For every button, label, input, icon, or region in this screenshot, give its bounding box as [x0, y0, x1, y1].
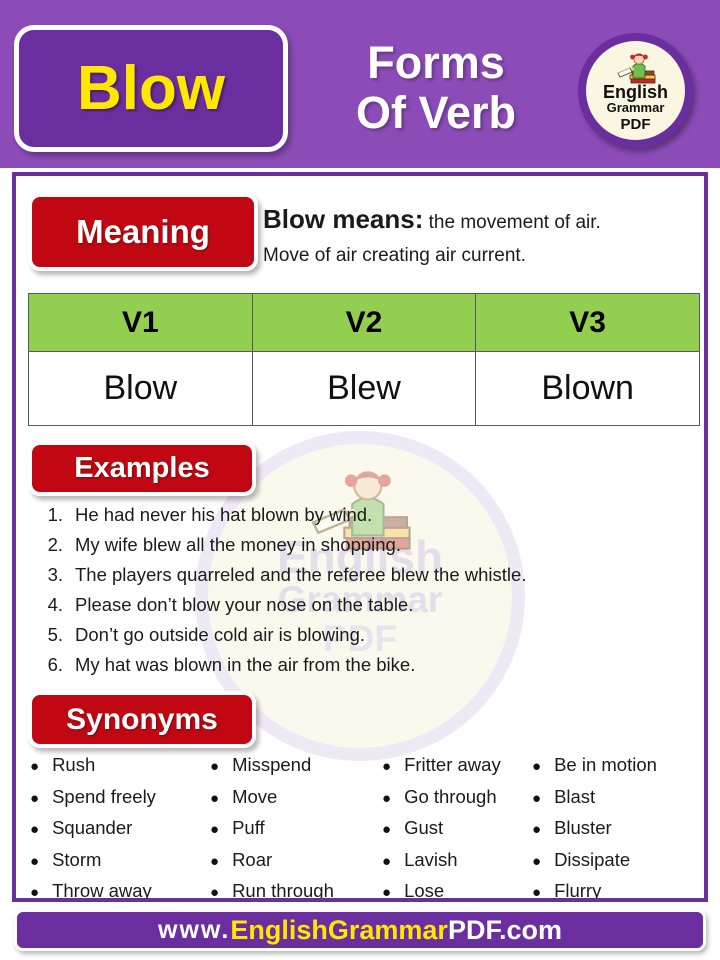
list-item: ●Run through [210, 882, 382, 901]
meaning-line-2: Move of air creating air current. [263, 241, 703, 270]
synonym-text: Run through [232, 882, 334, 901]
list-item: ●Misspend [210, 756, 382, 775]
footer-www: www. [158, 916, 230, 945]
footer-brand: EnglishGrammar [230, 915, 448, 946]
synonym-text: Lavish [404, 851, 457, 870]
synonym-text: Throw away [52, 882, 152, 901]
example-text: My hat was blown in the air from the bik… [75, 656, 686, 675]
meaning-badge-label: Meaning [76, 213, 210, 251]
verb-forms-table: V1 V2 V3 Blow Blew Blown [28, 293, 700, 426]
verb-title-box: Blow [14, 25, 288, 152]
bullet-icon: ● [532, 854, 541, 869]
synonym-text: Lose [404, 882, 444, 901]
synonym-text: Flurry [554, 882, 601, 901]
meaning-lead: Blow means: [263, 204, 423, 234]
table-header-row: V1 V2 V3 [29, 294, 700, 352]
bullet-icon: ● [382, 885, 391, 900]
example-number: 1. [46, 506, 75, 525]
table-row: Blow Blew Blown [29, 352, 700, 426]
list-item: ●Gust [382, 819, 532, 838]
list-item: 3. The players quarreled and the referee… [46, 566, 686, 585]
bullet-icon: ● [30, 791, 39, 806]
footer-suffix: PDF.com [448, 915, 562, 946]
synonym-text: Go through [404, 788, 497, 807]
bullet-icon: ● [30, 854, 39, 869]
list-item: ●Dissipate [532, 851, 700, 870]
bullet-icon: ● [382, 759, 391, 774]
bullet-icon: ● [210, 791, 219, 806]
bullet-icon: ● [210, 854, 219, 869]
example-text: The players quarreled and the referee bl… [75, 566, 686, 585]
list-item: ●Fritter away [382, 756, 532, 775]
verb-form-v2: Blew [252, 352, 476, 426]
synonym-text: Blast [554, 788, 595, 807]
verb-form-v3: Blown [476, 352, 700, 426]
bullet-icon: ● [532, 759, 541, 774]
list-item: 2. My wife blew all the money in shoppin… [46, 536, 686, 555]
child-reading-books-icon [613, 46, 659, 92]
meaning-definition: the movement of air. [423, 212, 600, 233]
synonyms-column-2: ●Misspend ●Move ●Puff ●Roar ●Run through [210, 756, 382, 902]
examples-badge-label: Examples [74, 452, 209, 485]
synonyms-badge-label: Synonyms [66, 703, 218, 737]
footer-website-bar[interactable]: www.EnglishGrammarPDF.com [14, 909, 706, 951]
example-number: 4. [46, 596, 75, 615]
example-text: Don’t go outside cold air is blowing. [75, 626, 686, 645]
example-number: 2. [46, 536, 75, 555]
synonym-text: Fritter away [404, 756, 501, 775]
subtitle-line-1: Forms [367, 38, 505, 88]
list-item: 4. Please don’t blow your nose on the ta… [46, 596, 686, 615]
example-number: 6. [46, 656, 75, 675]
list-item: 5. Don’t go outside cold air is blowing. [46, 626, 686, 645]
bullet-icon: ● [382, 791, 391, 806]
verb-form-v1: Blow [29, 352, 253, 426]
examples-badge: Examples [28, 441, 256, 496]
bullet-icon: ● [210, 759, 219, 774]
meaning-badge: Meaning [28, 193, 258, 271]
synonym-text: Gust [404, 819, 443, 838]
logo-text-pdf: PDF [621, 116, 651, 134]
logo-text-grammar: Grammar [607, 101, 665, 116]
list-item: ●Blast [532, 788, 700, 807]
bullet-icon: ● [210, 822, 219, 837]
list-item: ●Bluster [532, 819, 700, 838]
example-text: He had never his hat blown by wind. [75, 506, 686, 525]
brand-logo-badge: English Grammar PDF [578, 33, 693, 148]
bullet-icon: ● [382, 854, 391, 869]
bullet-icon: ● [30, 885, 39, 900]
synonym-text: Roar [232, 851, 272, 870]
column-header-v1: V1 [29, 294, 253, 352]
synonyms-column-3: ●Fritter away ●Go through ●Gust ●Lavish … [382, 756, 532, 902]
bullet-icon: ● [532, 791, 541, 806]
infographic-page: Blow Forms Of Verb [0, 0, 720, 960]
list-item: ●Rush [30, 756, 210, 775]
bullet-icon: ● [30, 759, 39, 774]
synonym-text: Rush [52, 756, 95, 775]
list-item: ●Be in motion [532, 756, 700, 775]
synonym-text: Dissipate [554, 851, 630, 870]
list-item: ●Move [210, 788, 382, 807]
header-subtitle: Forms Of Verb [296, 24, 576, 152]
synonym-text: Squander [52, 819, 132, 838]
list-item: 1. He had never his hat blown by wind. [46, 506, 686, 525]
list-item: ●Throw away [30, 882, 210, 901]
synonyms-columns: ●Rush ●Spend freely ●Squander ●Storm ●Th… [30, 756, 700, 902]
list-item: 6. My hat was blown in the air from the … [46, 656, 686, 675]
synonyms-column-4: ●Be in motion ●Blast ●Bluster ●Dissipate… [532, 756, 700, 902]
bullet-icon: ● [532, 885, 541, 900]
bullet-icon: ● [210, 885, 219, 900]
synonym-text: Puff [232, 819, 265, 838]
example-text: My wife blew all the money in shopping. [75, 536, 686, 555]
content-frame: English Grammar PDF Meaning Blow means: … [12, 172, 708, 902]
page-title: Blow [77, 58, 225, 120]
list-item: ●Lavish [382, 851, 532, 870]
example-number: 5. [46, 626, 75, 645]
synonym-text: Misspend [232, 756, 311, 775]
synonym-text: Spend freely [52, 788, 156, 807]
list-item: ●Puff [210, 819, 382, 838]
column-header-v2: V2 [252, 294, 476, 352]
list-item: ●Lose [382, 882, 532, 901]
bullet-icon: ● [382, 822, 391, 837]
list-item: ●Roar [210, 851, 382, 870]
synonym-text: Move [232, 788, 277, 807]
synonym-text: Be in motion [554, 756, 657, 775]
synonyms-badge: Synonyms [28, 691, 256, 748]
column-header-v3: V3 [476, 294, 700, 352]
bullet-icon: ● [30, 822, 39, 837]
meaning-text-block: Blow means: the movement of air. Move of… [263, 200, 703, 270]
example-text: Please don’t blow your nose on the table… [75, 596, 686, 615]
list-item: ●Spend freely [30, 788, 210, 807]
synonyms-column-1: ●Rush ●Spend freely ●Squander ●Storm ●Th… [30, 756, 210, 902]
bullet-icon: ● [532, 822, 541, 837]
list-item: ●Storm [30, 851, 210, 870]
examples-list: 1. He had never his hat blown by wind. 2… [46, 506, 686, 686]
synonym-text: Bluster [554, 819, 612, 838]
list-item: ●Go through [382, 788, 532, 807]
list-item: ●Squander [30, 819, 210, 838]
brand-logo-inner: English Grammar PDF [586, 41, 685, 140]
meaning-line-1: Blow means: the movement of air. [263, 200, 703, 239]
subtitle-line-2: Of Verb [356, 88, 516, 138]
list-item: ●Flurry [532, 882, 700, 901]
synonym-text: Storm [52, 851, 101, 870]
example-number: 3. [46, 566, 75, 585]
